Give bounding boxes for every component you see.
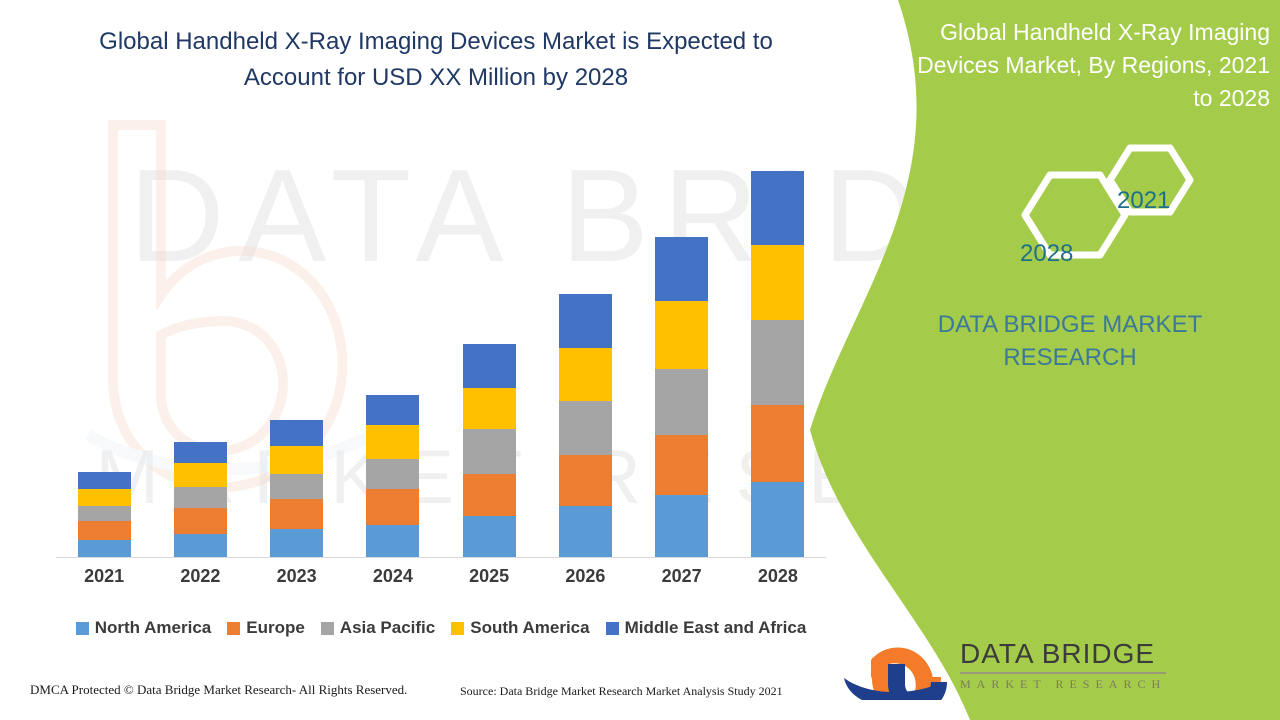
brand-name: DATA BRIDGE MARKET RESEARCH	[870, 308, 1270, 374]
bar-segment[interactable]	[463, 429, 516, 474]
legend-swatch-icon	[606, 622, 619, 635]
bar-segment[interactable]	[366, 489, 419, 525]
x-axis-label-2028: 2028	[730, 566, 826, 594]
bar-segment[interactable]	[366, 525, 419, 557]
bar-segment[interactable]	[174, 534, 227, 557]
legend-item[interactable]: South America	[451, 618, 589, 638]
bar-slot	[152, 130, 248, 557]
x-axis-label-2027: 2027	[634, 566, 730, 594]
x-axis-line	[56, 557, 826, 558]
chart-legend: North AmericaEuropeAsia PacificSouth Ame…	[46, 616, 836, 640]
bar-segment[interactable]	[655, 435, 708, 495]
footer-source: Source: Data Bridge Market Research Mark…	[460, 684, 783, 699]
legend-label: Middle East and Africa	[625, 618, 807, 638]
bar-segment[interactable]	[270, 499, 323, 529]
logo-text-block: DATA BRIDGE MARKET RESEARCH	[960, 638, 1166, 692]
legend-item[interactable]: Asia Pacific	[321, 618, 435, 638]
footer-copyright: DMCA Protected © Data Bridge Market Rese…	[30, 682, 407, 698]
bar-segment[interactable]	[270, 446, 323, 474]
x-axis-label-2024: 2024	[345, 566, 441, 594]
bar-segment[interactable]	[78, 540, 131, 557]
chart-plot-area	[56, 130, 826, 558]
legend-swatch-icon	[451, 622, 464, 635]
bar-segment[interactable]	[751, 245, 804, 320]
bar-segment[interactable]	[366, 459, 419, 489]
bar-segment[interactable]	[366, 425, 419, 459]
legend-label: Europe	[246, 618, 305, 638]
bar-segment[interactable]	[655, 369, 708, 435]
hexagon-badges: 2021 2028	[995, 140, 1205, 290]
bar-segment[interactable]	[463, 388, 516, 429]
bar-segment[interactable]	[559, 348, 612, 401]
bar-slot	[56, 130, 152, 557]
bar-segment[interactable]	[751, 405, 804, 482]
bar-segment[interactable]	[559, 401, 612, 454]
bar-segment[interactable]	[270, 420, 323, 446]
bar-segment[interactable]	[463, 516, 516, 557]
hexagon-label-end: 2028	[1020, 240, 1073, 268]
legend-item[interactable]: Middle East and Africa	[606, 618, 807, 638]
stacked-bar-2023[interactable]	[270, 420, 323, 557]
infographic-slide: DATA BRIDGE MARKET RESEARCH Global Handh…	[0, 0, 1280, 720]
stacked-bar-2022[interactable]	[174, 442, 227, 557]
stacked-bar-2025[interactable]	[463, 344, 516, 557]
legend-label: South America	[470, 618, 589, 638]
logo-primary-text: DATA BRIDGE	[960, 638, 1166, 674]
data-bridge-logo: DATA BRIDGE MARKET RESEARCH	[842, 630, 1262, 708]
x-axis-label-2026: 2026	[537, 566, 633, 594]
x-axis-label-2023: 2023	[249, 566, 345, 594]
bar-segment[interactable]	[78, 506, 131, 521]
bar-segment[interactable]	[78, 472, 131, 489]
stacked-bar-2021[interactable]	[78, 472, 131, 557]
bar-segment[interactable]	[270, 474, 323, 500]
legend-item[interactable]: Europe	[227, 618, 305, 638]
bar-slot	[537, 130, 633, 557]
bar-segment[interactable]	[366, 395, 419, 425]
bar-segment[interactable]	[655, 237, 708, 301]
hexagon-label-start: 2021	[1117, 187, 1170, 215]
bar-slot	[441, 130, 537, 557]
legend-label: Asia Pacific	[340, 618, 435, 638]
logo-secondary-text: MARKET RESEARCH	[960, 677, 1166, 692]
bar-slot	[730, 130, 826, 557]
bar-segment[interactable]	[174, 463, 227, 486]
bar-segment[interactable]	[463, 344, 516, 389]
bar-segment[interactable]	[174, 487, 227, 508]
green-panel-content: Global Handheld X-Ray Imaging Devices Ma…	[810, 0, 1280, 720]
bar-segment[interactable]	[174, 508, 227, 534]
chart-title: Global Handheld X-Ray Imaging Devices Ma…	[56, 24, 816, 96]
legend-swatch-icon	[227, 622, 240, 635]
panel-title: Global Handheld X-Ray Imaging Devices Ma…	[910, 16, 1270, 115]
legend-swatch-icon	[321, 622, 334, 635]
legend-swatch-icon	[76, 622, 89, 635]
x-axis-label-2022: 2022	[152, 566, 248, 594]
bar-segment[interactable]	[751, 482, 804, 557]
bar-segment[interactable]	[751, 171, 804, 246]
bar-segment[interactable]	[174, 442, 227, 463]
bar-slot	[249, 130, 345, 557]
bar-segment[interactable]	[751, 320, 804, 405]
bar-segment[interactable]	[559, 294, 612, 347]
bar-segment[interactable]	[655, 495, 708, 557]
footer: DMCA Protected © Data Bridge Market Rese…	[0, 682, 860, 706]
x-axis-label-2025: 2025	[441, 566, 537, 594]
bar-segment[interactable]	[463, 474, 516, 517]
bar-slot	[345, 130, 441, 557]
bar-segment[interactable]	[78, 489, 131, 506]
x-axis-labels: 20212022202320242025202620272028	[56, 566, 826, 594]
bar-segment[interactable]	[559, 455, 612, 506]
stacked-bar-2027[interactable]	[655, 237, 708, 557]
bar-slot	[634, 130, 730, 557]
bar-segment[interactable]	[270, 529, 323, 557]
x-axis-label-2021: 2021	[56, 566, 152, 594]
legend-label: North America	[95, 618, 212, 638]
bar-segment[interactable]	[559, 506, 612, 557]
bar-segment[interactable]	[655, 301, 708, 369]
stacked-bar-2024[interactable]	[366, 395, 419, 557]
bar-segment[interactable]	[78, 521, 131, 540]
stacked-bar-2026[interactable]	[559, 294, 612, 557]
stacked-bar-group	[56, 130, 826, 557]
stacked-bar-2028[interactable]	[751, 171, 804, 557]
legend-item[interactable]: North America	[76, 618, 212, 638]
